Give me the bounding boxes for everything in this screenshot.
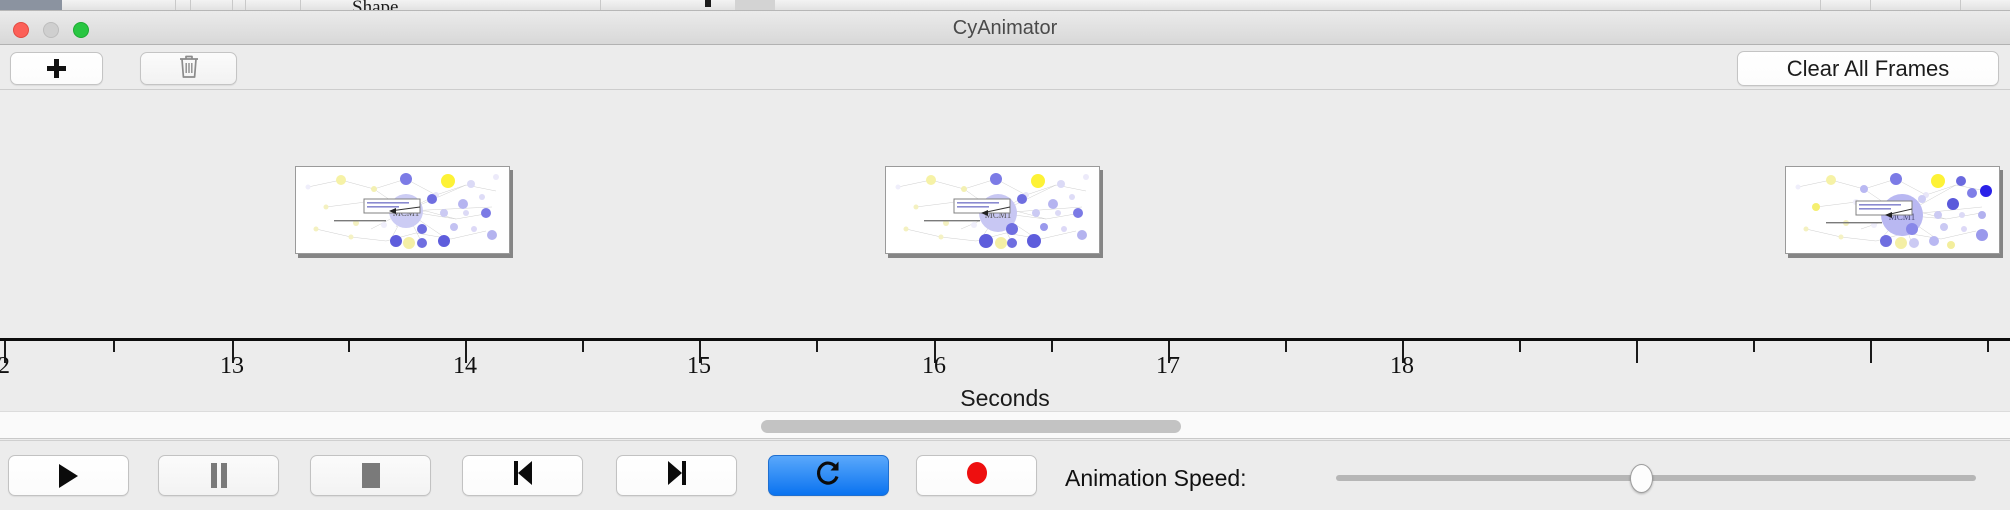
clear-all-frames-button[interactable]: Clear All Frames: [1737, 51, 1999, 86]
axis-tick-label: 15: [687, 353, 711, 380]
axis-title: Seconds: [0, 385, 2010, 411]
animation-speed-slider-track[interactable]: [1336, 475, 1976, 481]
axis-tick-label: 17: [1156, 353, 1180, 380]
next-frame-button[interactable]: [616, 455, 737, 496]
play-icon: [59, 464, 78, 488]
stop-icon: [362, 463, 380, 488]
pause-icon: [210, 463, 228, 488]
background-tab: [0, 0, 62, 11]
play-button[interactable]: [8, 455, 129, 496]
background-seam: [245, 0, 246, 11]
delete-frame-button[interactable]: [140, 52, 237, 85]
background-window-label: Shape: [352, 0, 398, 11]
axis-tick-minor: [348, 341, 350, 352]
pause-button[interactable]: [158, 455, 279, 496]
cyanimator-window: Shape CyAnimator Clear All Frames: [0, 0, 2010, 510]
timeline-axis: [0, 338, 2010, 341]
frame-thumbnail-1[interactable]: MCM1: [295, 166, 510, 254]
axis-tick-minor: [1051, 341, 1053, 352]
loop-button[interactable]: [768, 455, 889, 496]
prev-frame-button[interactable]: [462, 455, 583, 496]
axis-tick-minor: [1519, 341, 1521, 352]
background-marker: [705, 0, 711, 7]
background-seam: [1960, 0, 1961, 11]
background-seam: [175, 0, 176, 11]
background-seam: [232, 0, 233, 11]
clear-all-frames-label: Clear All Frames: [1787, 56, 1950, 82]
axis-tick-label: 14: [453, 353, 477, 380]
record-icon: [964, 460, 990, 491]
background-seam: [600, 0, 601, 11]
axis-tick-minor: [582, 341, 584, 352]
animation-speed-slider-knob[interactable]: [1630, 464, 1653, 493]
axis-tick-label: 16: [922, 353, 946, 380]
background-seam: [1870, 0, 1871, 11]
axis-tick-minor: [113, 341, 115, 352]
toolbar: Clear All Frames: [0, 45, 2010, 90]
page-title: CyAnimator: [0, 11, 2010, 45]
axis-tick-label: 18: [1390, 353, 1414, 380]
title-bar: CyAnimator: [0, 11, 2010, 45]
axis-tick-label: 13: [220, 353, 244, 380]
skip-end-icon: [665, 460, 689, 491]
axis-tick-minor: [1285, 341, 1287, 352]
axis-tick-label: 2: [0, 353, 10, 380]
plus-icon: [47, 59, 66, 78]
background-window-strip: Shape: [0, 0, 2010, 11]
player-bar: Animation Speed:: [0, 440, 2010, 510]
loop-icon: [816, 459, 842, 492]
horizontal-scrollbar-thumb[interactable]: [761, 420, 1181, 433]
frame-thumbnail-2[interactable]: MCM1: [885, 166, 1100, 254]
background-tab: [735, 0, 775, 11]
horizontal-scrollbar-track[interactable]: [0, 411, 2010, 439]
stop-button[interactable]: [310, 455, 431, 496]
background-seam: [300, 0, 301, 11]
frame-thumbnail-3[interactable]: MCM1: [1785, 166, 2000, 254]
axis-tick-minor: [1987, 341, 1989, 352]
timeline-panel[interactable]: MCM1: [0, 91, 2010, 411]
axis-tick-major: [1870, 341, 1872, 363]
axis-tick-minor: [816, 341, 818, 352]
axis-tick-minor: [1753, 341, 1755, 352]
skip-start-icon: [511, 460, 535, 491]
background-seam: [1820, 0, 1821, 11]
background-seam: [190, 0, 191, 11]
trash-icon: [178, 54, 200, 84]
animation-speed-label: Animation Speed:: [1065, 465, 1247, 492]
add-frame-button[interactable]: [10, 52, 103, 85]
axis-tick-major: [1636, 341, 1638, 363]
record-button[interactable]: [916, 455, 1037, 496]
